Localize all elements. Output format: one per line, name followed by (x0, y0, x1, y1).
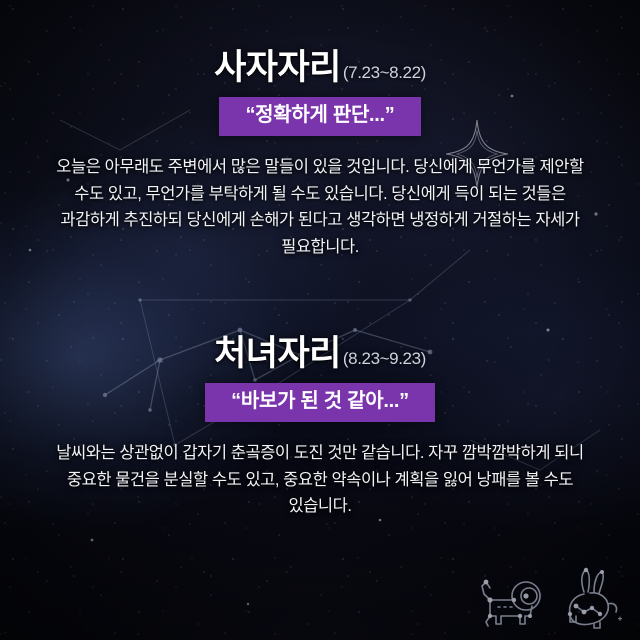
sign-section-virgo: 처녀자리 (8.23~9.23) “바보가 된 것 같아...” 날씨와는 상관… (0, 336, 640, 520)
quote-banner-leo: “정확하게 판단...” (219, 97, 420, 136)
sign-section-leo: 사자자리 (7.23~8.22) “정확하게 판단...” 오늘은 아무래도 주… (0, 50, 640, 261)
lion-constellation-icon (474, 566, 550, 634)
sign-name-leo: 사자자리 (214, 50, 341, 85)
horoscope-body-virgo: 날씨와는 상관없이 갑자기 춘곸증이 도진 것만 같습니다. 자꾸 깜박깜박하게… (55, 440, 585, 520)
sign-dates-leo: (7.23~8.22) (343, 64, 426, 81)
horoscope-body-leo: 오늘은 아무래도 주변에서 많은 말들이 있을 것입니다. 당신에게 무언가를 … (55, 154, 585, 261)
quote-banner-virgo: “바보가 된 것 같아...” (205, 383, 435, 422)
sign-dates-virgo: (8.23~9.23) (343, 350, 426, 367)
sign-name-virgo: 처녀자리 (214, 336, 341, 371)
horoscope-card: 사자자리 (7.23~8.22) “정확하게 판단...” 오늘은 아무래도 주… (0, 0, 640, 640)
sign-heading-leo: 사자자리 (7.23~8.22) (0, 50, 640, 85)
zodiac-icon-group (474, 566, 628, 634)
rabbit-constellation-icon (554, 566, 628, 634)
sign-heading-virgo: 처녀자리 (8.23~9.23) (0, 336, 640, 371)
card-content: 사자자리 (7.23~8.22) “정확하게 판단...” 오늘은 아무래도 주… (0, 0, 640, 640)
